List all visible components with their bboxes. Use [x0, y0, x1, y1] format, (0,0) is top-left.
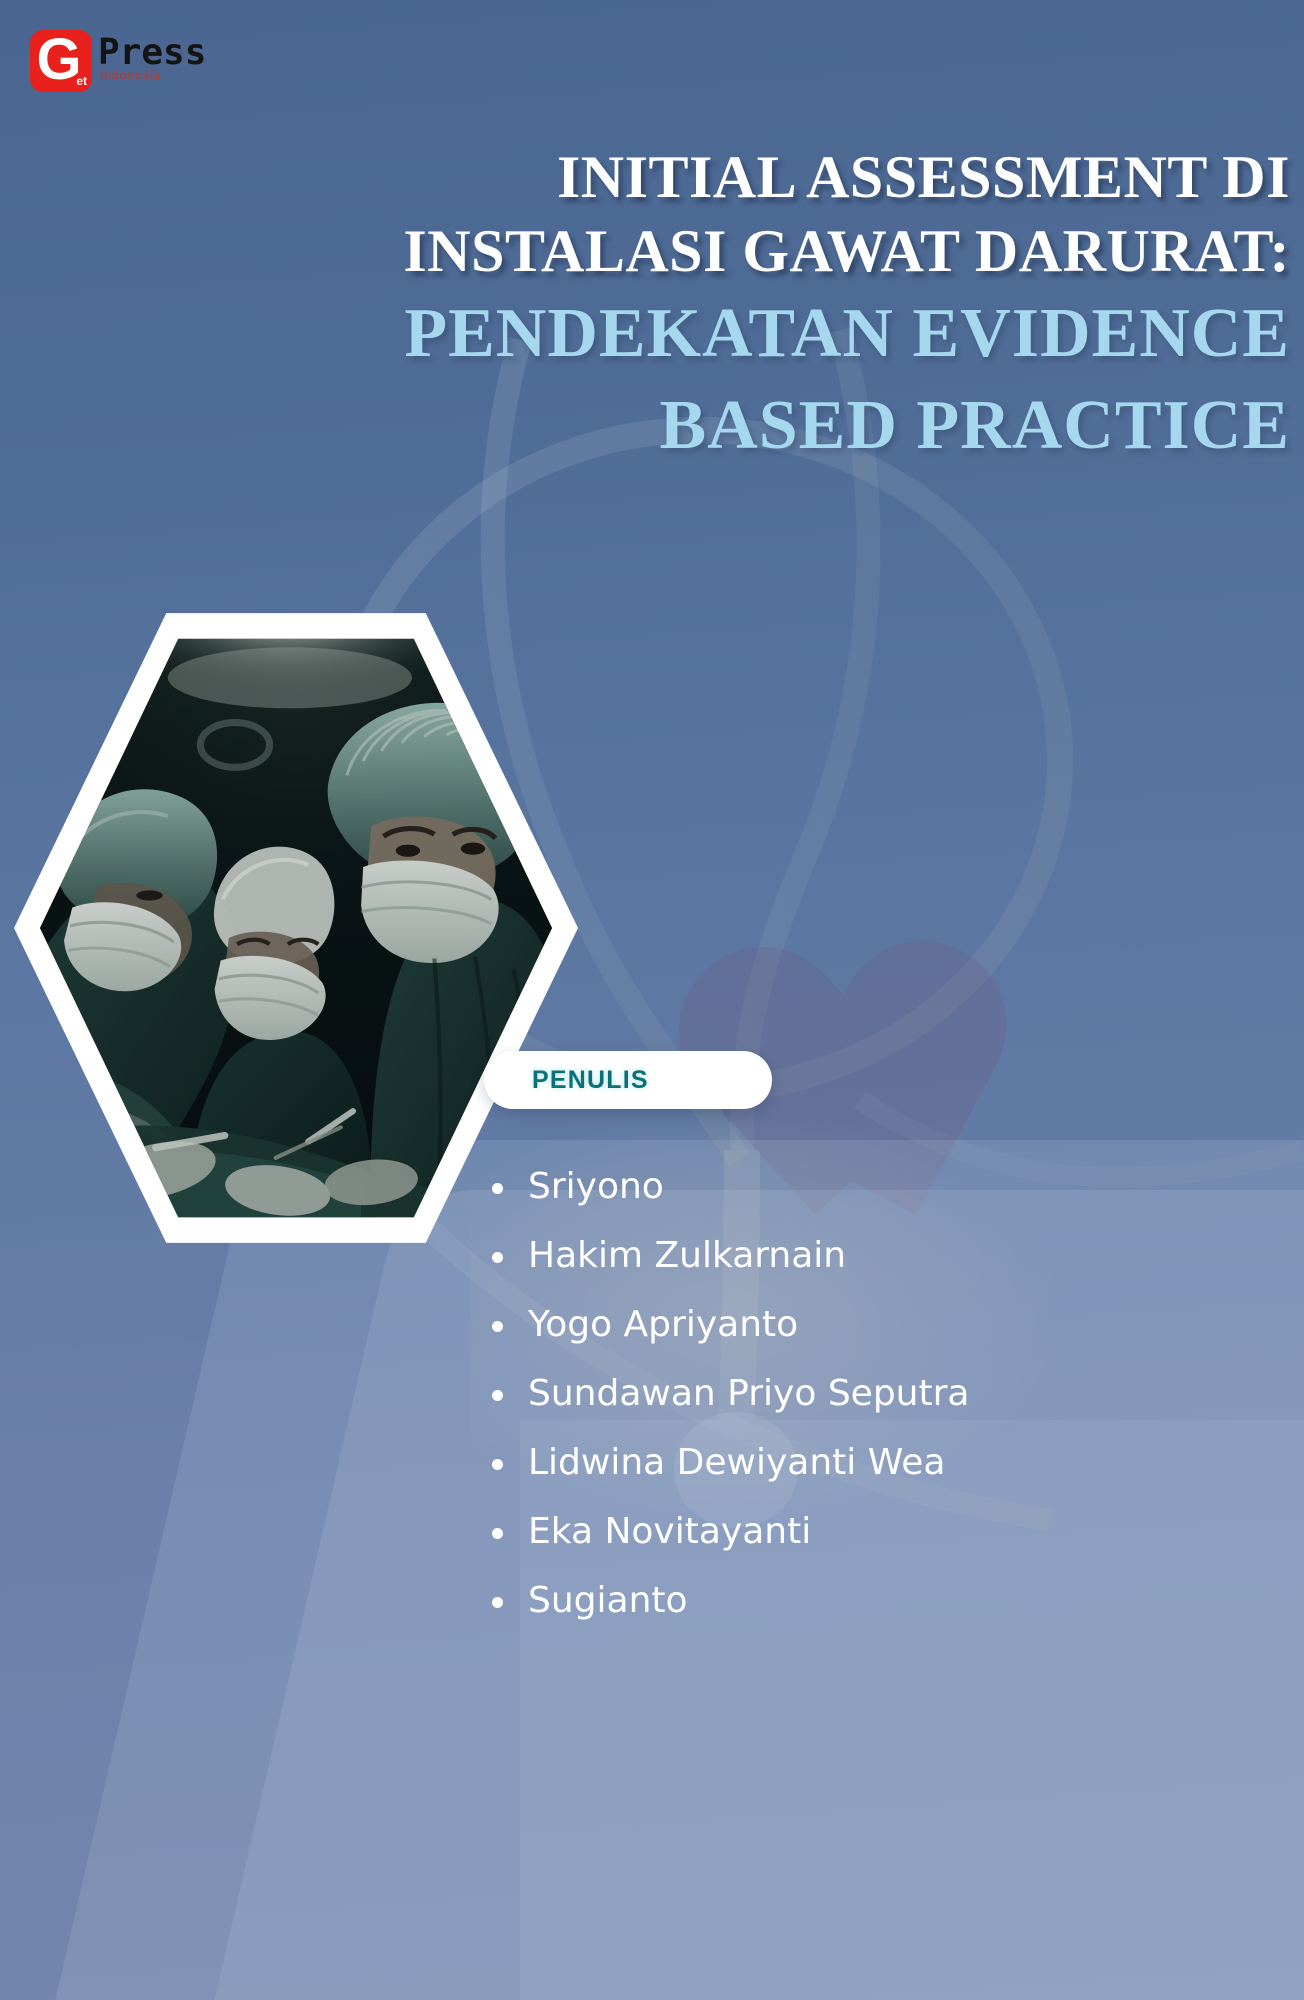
title-line-2: INSTALASI GAWAT DARURAT:: [0, 214, 1290, 288]
book-cover: G et Press Indonesia INITIAL ASSESSMENT …: [0, 0, 1304, 2000]
title-line-1: INITIAL ASSESSMENT DI: [0, 140, 1290, 214]
author-list: Sriyono Hakim Zulkarnain Yogo Apriyanto …: [478, 1152, 969, 1635]
logo-letter-g: G: [36, 35, 79, 85]
list-item: Sriyono: [478, 1152, 969, 1221]
logo-tagline: Indonesia: [100, 68, 161, 82]
logo-wordmark: Press Indonesia: [98, 34, 206, 72]
title-line-3: PENDEKATAN EVIDENCE: [0, 288, 1290, 380]
list-item: Sundawan Priyo Seputra: [478, 1359, 969, 1428]
title-line-4: BASED PRACTICE: [0, 380, 1290, 472]
logo-mark-icon: G et: [30, 30, 92, 92]
list-item: Lidwina Dewiyanti Wea: [478, 1428, 969, 1497]
penulis-label: PENULIS: [532, 1066, 649, 1095]
list-item: Hakim Zulkarnain: [478, 1221, 969, 1290]
list-item: Eka Novitayanti: [478, 1497, 969, 1566]
list-item: Sugianto: [478, 1566, 969, 1635]
book-title: INITIAL ASSESSMENT DI INSTALASI GAWAT DA…: [0, 140, 1304, 472]
list-item: Yogo Apriyanto: [478, 1290, 969, 1359]
hexagon-photo-clip: [40, 633, 552, 1223]
surgical-team-photo: [40, 633, 552, 1223]
penulis-badge: PENULIS: [484, 1051, 772, 1109]
logo-sub-et: et: [76, 74, 87, 88]
publisher-logo[interactable]: G et Press Indonesia: [30, 30, 206, 92]
logo-press-text: Press: [98, 34, 206, 72]
